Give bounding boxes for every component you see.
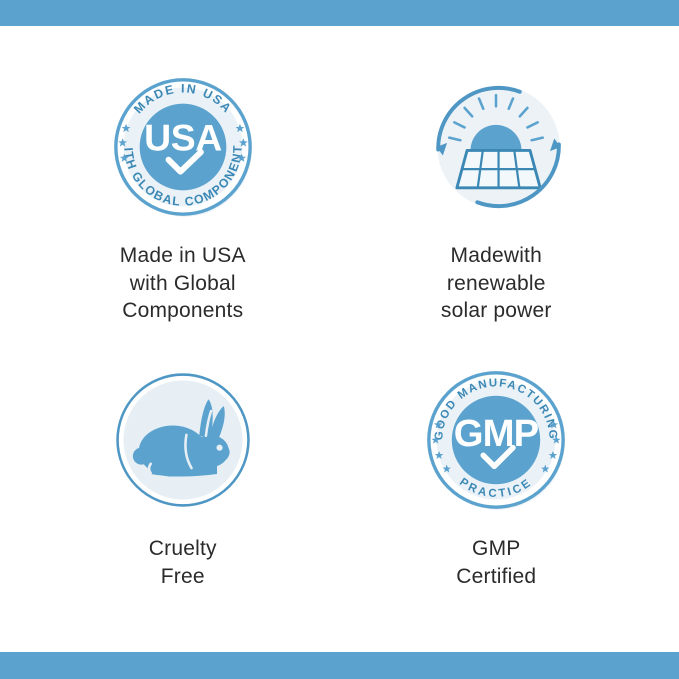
badge-made-in-usa: MADE IN USA WITH GLOBAL COMPONENTS USA <box>26 62 340 353</box>
solar-panel-renewable-icon <box>411 62 581 232</box>
top-accent-bar <box>0 0 679 26</box>
badge-cruelty-free: Cruelty Free <box>26 353 340 644</box>
badge-caption: GMP Certified <box>456 535 536 590</box>
badge-renewable-solar: Madewith renewable solar power <box>340 62 654 353</box>
made-in-usa-seal-icon: MADE IN USA WITH GLOBAL COMPONENTS USA <box>98 62 268 232</box>
badges-grid: MADE IN USA WITH GLOBAL COMPONENTS USA <box>0 26 679 652</box>
seal-center-text: USA <box>144 116 222 158</box>
rabbit-cruelty-free-icon <box>98 355 268 525</box>
seal-center-text: GMP <box>454 412 539 455</box>
badge-gmp-certified: GOOD MANUFACTURING PRACTICE GMP <box>340 353 654 644</box>
trust-badges-panel: MADE IN USA WITH GLOBAL COMPONENTS USA <box>0 0 679 679</box>
solar-panel-icon <box>457 150 540 187</box>
bottom-accent-bar <box>0 652 679 679</box>
gmp-seal-icon: GOOD MANUFACTURING PRACTICE GMP <box>411 355 581 525</box>
badge-caption: Cruelty Free <box>149 535 217 590</box>
rabbit-eye-icon <box>216 445 222 451</box>
badge-caption: Made in USA with Global Components <box>120 242 246 325</box>
badge-caption: Madewith renewable solar power <box>441 242 552 325</box>
